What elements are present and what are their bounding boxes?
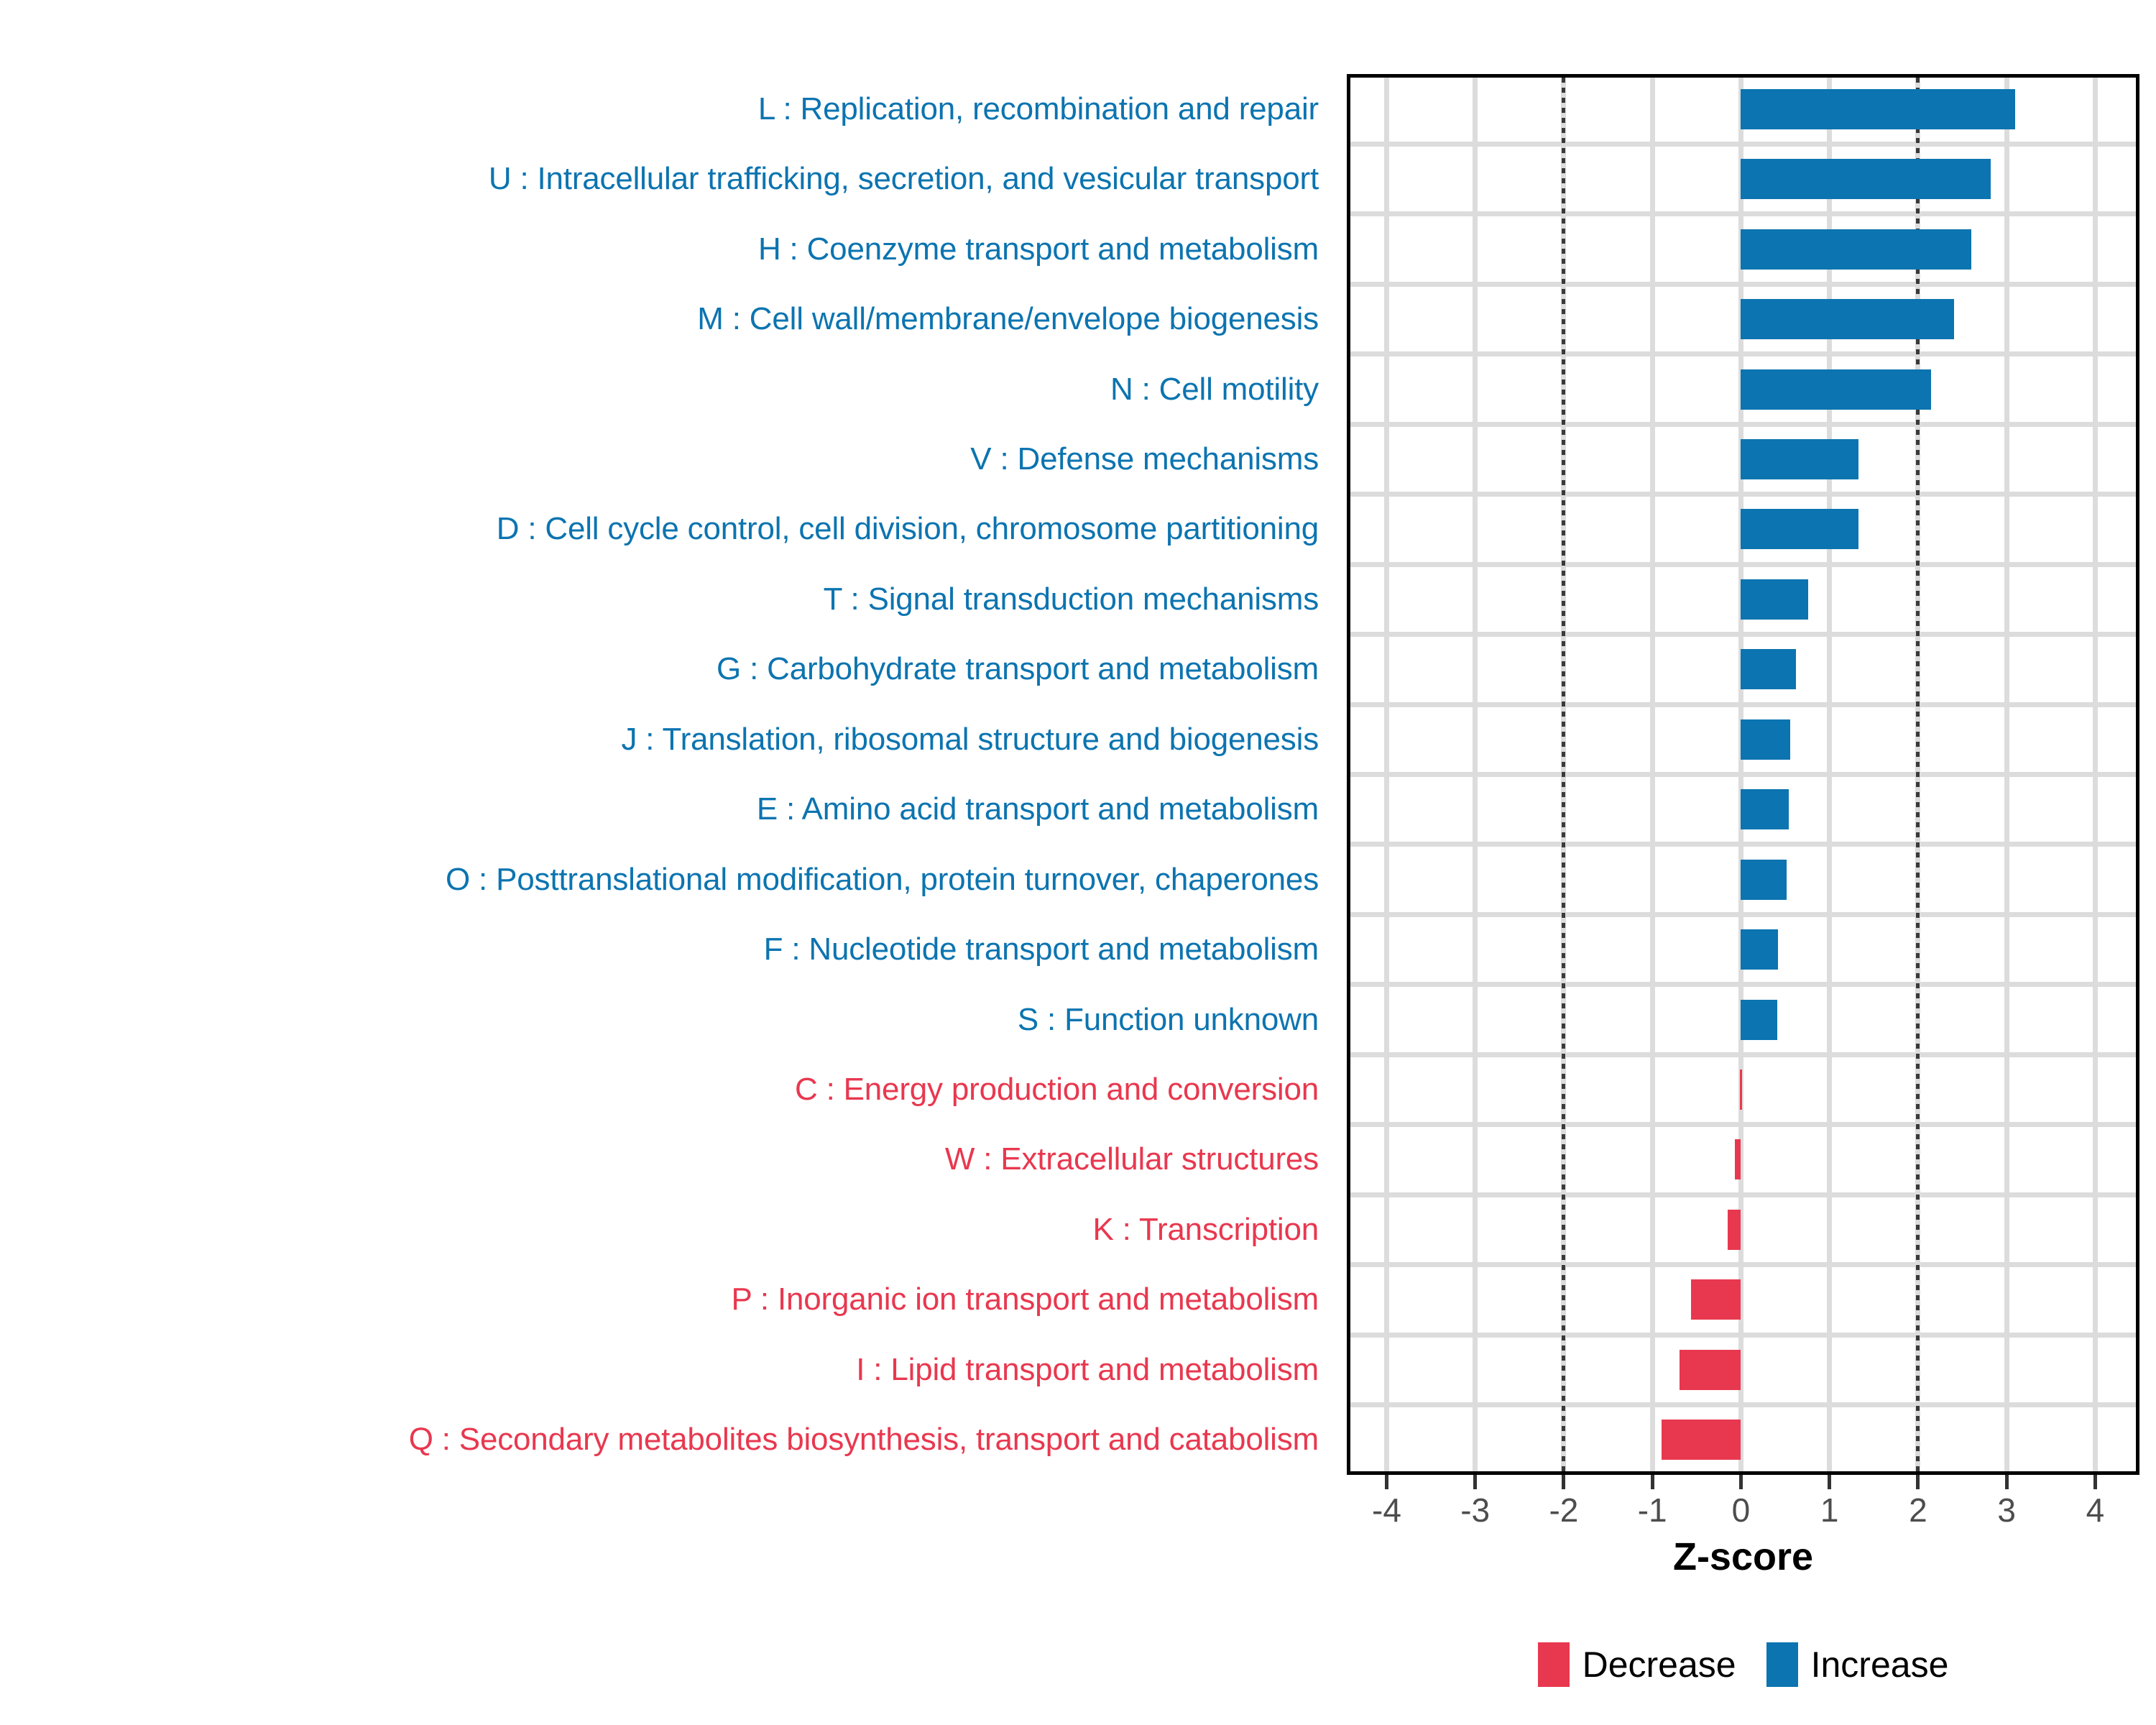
category-label: H : Coenzyme transport and metabolism xyxy=(758,214,1319,284)
category-label: J : Translation, ribosomal structure and… xyxy=(621,704,1319,774)
category-label: E : Amino acid transport and metabolism xyxy=(757,775,1319,845)
x-tick-label: 2 xyxy=(1909,1491,1927,1529)
x-tick-label: 3 xyxy=(1997,1491,2016,1529)
horizontal-gridline xyxy=(1350,1262,2136,1267)
x-tick-label: 1 xyxy=(1820,1491,1839,1529)
legend-label: Increase xyxy=(1811,1644,1949,1685)
category-label: U : Intracellular trafficking, secretion… xyxy=(489,144,1319,213)
category-label: Q : Secondary metabolites biosynthesis, … xyxy=(409,1405,1319,1475)
legend-swatch-decrease xyxy=(1538,1642,1570,1687)
category-label: O : Posttranslational modification, prot… xyxy=(446,845,1319,914)
bar xyxy=(1741,159,1991,199)
chart-legend: DecreaseIncrease xyxy=(1347,1642,2139,1687)
category-label: I : Lipid transport and metabolism xyxy=(856,1335,1319,1404)
x-tick-mark xyxy=(1916,1475,1920,1489)
horizontal-gridline xyxy=(1350,982,2136,987)
x-tick-mark xyxy=(2005,1475,2009,1489)
category-label: P : Inorganic ion transport and metaboli… xyxy=(732,1265,1319,1335)
x-tick-mark xyxy=(1562,1475,1565,1489)
category-label: W : Extracellular structures xyxy=(945,1125,1319,1195)
legend-item[interactable]: Increase xyxy=(1766,1642,1949,1687)
horizontal-gridline xyxy=(1350,1192,2136,1197)
x-tick-label: -4 xyxy=(1372,1491,1401,1529)
horizontal-gridline xyxy=(1350,211,2136,216)
x-tick-label: 4 xyxy=(2086,1491,2105,1529)
horizontal-gridline xyxy=(1350,492,2136,497)
horizontal-gridline xyxy=(1350,1402,2136,1407)
bar xyxy=(1735,1139,1741,1179)
bar xyxy=(1741,509,1858,549)
x-tick-mark xyxy=(1651,1475,1654,1489)
legend-label: Decrease xyxy=(1583,1644,1736,1685)
bar xyxy=(1741,89,2015,129)
x-tick-label: 0 xyxy=(1732,1491,1751,1529)
horizontal-gridline xyxy=(1350,632,2136,637)
horizontal-gridline xyxy=(1350,1333,2136,1338)
bar xyxy=(1741,439,1858,479)
category-label: T : Signal transduction mechanisms xyxy=(824,564,1319,634)
bar xyxy=(1691,1279,1741,1320)
x-tick-mark xyxy=(2093,1475,2097,1489)
x-tick-mark xyxy=(1473,1475,1477,1489)
bar xyxy=(1741,579,1808,620)
category-label: C : Energy production and conversion xyxy=(795,1054,1319,1124)
horizontal-gridline xyxy=(1350,422,2136,427)
x-tick-label: -2 xyxy=(1549,1491,1578,1529)
category-label: S : Function unknown xyxy=(1018,985,1319,1054)
horizontal-gridline xyxy=(1350,912,2136,917)
bar xyxy=(1741,1000,1777,1040)
horizontal-gridline xyxy=(1350,1122,2136,1127)
bar xyxy=(1662,1420,1741,1460)
x-tick-mark xyxy=(1828,1475,1831,1489)
horizontal-gridline xyxy=(1350,142,2136,147)
horizontal-gridline xyxy=(1350,562,2136,567)
bar xyxy=(1741,789,1789,829)
bar xyxy=(1741,719,1790,760)
horizontal-gridline xyxy=(1350,702,2136,707)
x-tick-label: -1 xyxy=(1638,1491,1667,1529)
horizontal-gridline xyxy=(1350,842,2136,847)
chart-figure: L : Replication, recombination and repai… xyxy=(0,0,2156,1725)
bar xyxy=(1741,860,1787,900)
x-tick-mark xyxy=(1739,1475,1743,1489)
reference-line xyxy=(1562,78,1565,1471)
category-label: V : Defense mechanisms xyxy=(970,424,1319,494)
category-axis-labels: L : Replication, recombination and repai… xyxy=(0,74,1333,1475)
bar xyxy=(1741,229,1971,270)
bar xyxy=(1741,929,1778,970)
x-axis-title: Z-score xyxy=(1347,1535,2139,1579)
bar xyxy=(1741,649,1795,689)
bar xyxy=(1741,369,1931,410)
horizontal-gridline xyxy=(1350,1052,2136,1057)
bar xyxy=(1728,1210,1741,1250)
category-label: D : Cell cycle control, cell division, c… xyxy=(497,494,1319,564)
x-axis: -4-3-2-101234 xyxy=(1347,1475,2139,1518)
category-label: F : Nucleotide transport and metabolism xyxy=(764,914,1319,984)
bar xyxy=(1740,1069,1742,1110)
bar xyxy=(1680,1350,1741,1390)
category-label: K : Transcription xyxy=(1092,1195,1319,1264)
horizontal-gridline xyxy=(1350,772,2136,777)
category-label: L : Replication, recombination and repai… xyxy=(758,74,1319,144)
category-label: N : Cell motility xyxy=(1110,354,1319,424)
category-label: G : Carbohydrate transport and metabolis… xyxy=(717,635,1319,704)
legend-item[interactable]: Decrease xyxy=(1538,1642,1736,1687)
legend-swatch-increase xyxy=(1766,1642,1798,1687)
x-tick-mark xyxy=(1385,1475,1388,1489)
bar xyxy=(1741,299,1954,339)
plot-panel xyxy=(1347,74,2139,1475)
horizontal-gridline xyxy=(1350,351,2136,356)
reference-line xyxy=(1916,78,1920,1471)
horizontal-gridline xyxy=(1350,282,2136,287)
category-label: M : Cell wall/membrane/envelope biogenes… xyxy=(697,284,1319,354)
x-tick-label: -3 xyxy=(1460,1491,1490,1529)
